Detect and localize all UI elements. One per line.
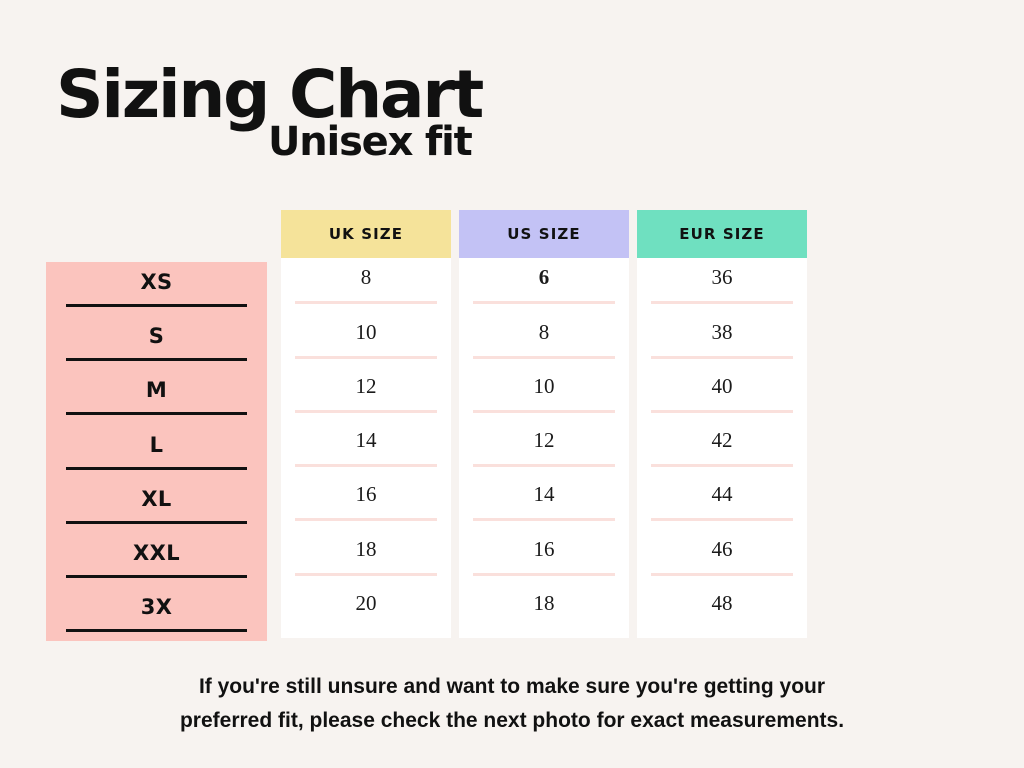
cell-divider [651,573,793,576]
cell-value: 38 [712,322,733,356]
cell-value: 14 [356,430,377,464]
table-cell: 46 [651,529,793,583]
cell-divider [473,356,615,359]
eur-column-body: 36 38 40 42 44 46 [637,258,807,638]
cell-divider [295,301,437,304]
cell-divider [651,410,793,413]
eur-column-header: EUR SIZE [637,210,807,258]
table-cell: 42 [651,421,793,475]
table-cell: 12 [295,367,437,421]
cell-divider [295,464,437,467]
size-label: 3X [141,597,173,629]
row-divider [66,412,247,415]
us-column-header: US SIZE [459,210,629,258]
table-cell: 8 [295,258,437,312]
table-row: M [66,370,247,424]
row-divider [66,629,247,632]
footer-note-line-2: preferred fit, please check the next pho… [80,704,944,738]
cell-divider [473,627,615,630]
row-divider [66,521,247,524]
cell-value: 10 [534,376,555,410]
eur-size-column: EUR SIZE 36 38 40 42 44 4 [637,210,807,638]
table-cell: 16 [295,475,437,529]
row-divider [66,575,247,578]
table-cell: 8 [473,312,615,366]
size-label: XS [140,272,172,304]
table-cell: 10 [473,367,615,421]
table-cell: 44 [651,475,793,529]
table-cell: 14 [295,421,437,475]
table-row: L [66,424,247,478]
cell-divider [473,301,615,304]
cell-value: 46 [712,539,733,573]
size-label-column: XS S M L XL XXL 3X [46,262,267,641]
cell-value: 8 [361,267,372,301]
cell-value: 18 [356,539,377,573]
cell-value: 42 [712,430,733,464]
cell-divider [473,573,615,576]
table-cell: 36 [651,258,793,312]
cell-value: 10 [356,322,377,356]
cell-value: 14 [534,484,555,518]
table-cell: 20 [295,584,437,638]
row-divider [66,358,247,361]
table-cell: 48 [651,584,793,638]
us-column-body: 6 8 10 12 14 16 [459,258,629,638]
cell-divider [651,518,793,521]
cell-divider [473,410,615,413]
row-divider [66,467,247,470]
table-cell: 18 [295,529,437,583]
table-cell: 18 [473,584,615,638]
uk-column-header: UK SIZE [281,210,451,258]
uk-column-body: 8 10 12 14 16 18 [281,258,451,638]
cell-value: 12 [534,430,555,464]
cell-divider [295,410,437,413]
table-cell: 38 [651,312,793,366]
cell-divider [651,627,793,630]
cell-divider [651,464,793,467]
footer-note-line-1: If you're still unsure and want to make … [80,670,944,704]
table-cell: 16 [473,529,615,583]
cell-value: 8 [539,322,550,356]
us-size-column: US SIZE 6 8 10 12 14 16 [459,210,629,638]
footer-note: If you're still unsure and want to make … [0,670,1024,738]
cell-value: 16 [534,539,555,573]
cell-divider [295,573,437,576]
size-label: XXL [133,543,180,575]
cell-value: 6 [539,267,550,301]
cell-value: 16 [356,484,377,518]
table-cell: 40 [651,367,793,421]
cell-value: 44 [712,484,733,518]
table-row: XS [66,262,247,316]
cell-value: 12 [356,376,377,410]
cell-divider [295,356,437,359]
cell-divider [295,627,437,630]
size-label: XL [141,489,171,521]
cell-divider [295,518,437,521]
table-row: XXL [66,533,247,587]
cell-divider [651,301,793,304]
table-cell: 10 [295,312,437,366]
cell-value: 18 [534,593,555,627]
table-row: 3X [66,587,247,641]
cell-divider [473,464,615,467]
size-label: S [149,326,165,358]
cell-divider [651,356,793,359]
cell-value: 40 [712,376,733,410]
cell-value: 36 [712,267,733,301]
size-label: L [150,435,164,467]
table-cell: 14 [473,475,615,529]
uk-size-column: UK SIZE 8 10 12 14 16 18 [281,210,451,638]
cell-value: 20 [356,593,377,627]
table-cell: 12 [473,421,615,475]
size-label: M [146,380,167,412]
cell-divider [473,518,615,521]
table-row: S [66,316,247,370]
cell-value: 48 [712,593,733,627]
row-divider [66,304,247,307]
table-row: XL [66,479,247,533]
table-cell: 6 [473,258,615,312]
sizing-table: XS S M L XL XXL 3X UK SIZE [0,0,1024,768]
